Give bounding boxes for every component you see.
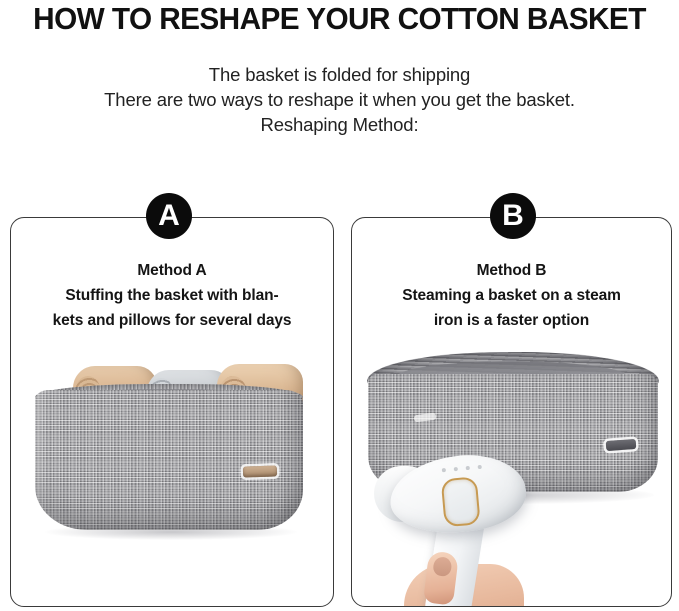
steamer-power-button [441, 476, 481, 527]
basket-a-handle [243, 465, 277, 477]
method-a-text: Method A Stuffing the basket with blan- … [11, 258, 333, 333]
method-b-text: Method B Steaming a basket on a steam ir… [352, 258, 671, 333]
method-badge-b: B [490, 193, 536, 239]
method-b-description-line-1: Steaming a basket on a steam [352, 283, 671, 308]
method-b-heading: Method B [352, 258, 671, 283]
method-a-description-line-2: kets and pillows for several days [11, 308, 333, 333]
subtitle-line-1: The basket is folded for shipping [0, 62, 679, 87]
steamer-dot [478, 465, 482, 469]
steamer-dot [454, 467, 458, 471]
basket-with-blankets-image [11, 358, 333, 573]
basket-a-body [35, 390, 303, 530]
subtitle-line-2: There are two ways to reshape it when yo… [0, 87, 679, 112]
method-card-a: Method A Stuffing the basket with blan- … [10, 217, 334, 607]
subtitle-line-3: Reshaping Method: [0, 112, 679, 137]
basket-b-handle-left [414, 413, 437, 423]
steamer-dot [466, 466, 470, 470]
page-title: HOW TO RESHAPE YOUR COTTON BASKET [14, 0, 666, 38]
method-card-b: Method B Steaming a basket on a steam ir… [351, 217, 672, 607]
steamer-dot [442, 468, 446, 472]
basket-b-handle-right [606, 439, 637, 451]
method-a-description-line-1: Stuffing the basket with blan- [11, 283, 333, 308]
method-b-description-line-2: iron is a faster option [352, 308, 671, 333]
method-badge-a: A [146, 193, 192, 239]
steamer-indicator-dots [442, 463, 483, 474]
basket-with-steamer-image [352, 338, 671, 607]
subtitle-block: The basket is folded for shipping There … [0, 62, 679, 137]
method-a-heading: Method A [11, 258, 333, 283]
